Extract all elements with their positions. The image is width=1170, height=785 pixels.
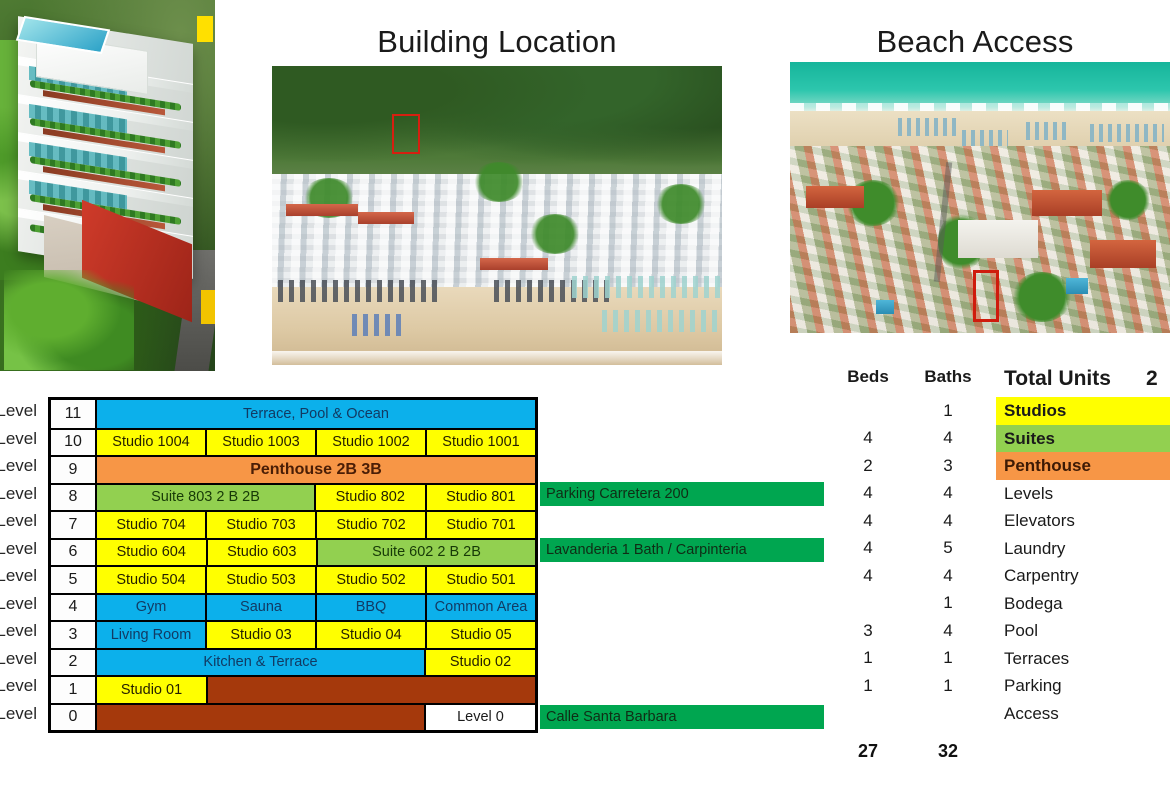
column-header-baths: Baths	[900, 367, 996, 387]
floor-level-number: 10	[51, 430, 97, 456]
shoreline-surf	[272, 351, 722, 365]
summary-category-label: Carpentry	[996, 562, 1146, 590]
floor-unit-cell: Kitchen & Terrace	[97, 650, 426, 676]
floor-unit-cell: Terrace, Pool & Ocean	[97, 400, 535, 428]
beach-umbrellas	[898, 118, 956, 136]
floor-unit-cell: Studio 01	[97, 677, 208, 703]
summary-baths-value: 4	[900, 566, 996, 586]
summary-category-label: Parking	[996, 672, 1146, 700]
summary-totals-row: 27 32	[836, 735, 1170, 767]
floor-unit-cell: Studio 502	[317, 567, 427, 593]
summary-row: 11Parking	[836, 672, 1170, 700]
summary-row: 34Pool	[836, 617, 1170, 645]
floor-unit-cell	[97, 705, 426, 731]
level-label: Level	[0, 507, 40, 535]
summary-category-count	[1146, 590, 1170, 618]
summary-row: 44Elevators	[836, 507, 1170, 535]
summary-baths-value: 4	[900, 621, 996, 641]
floor-unit-cell: Studio 704	[97, 512, 207, 538]
floor-table-row: 11Terrace, Pool & Ocean	[51, 400, 535, 428]
summary-row: 1Studios	[836, 397, 1170, 425]
floor-table-row: 7Studio 704Studio 703Studio 702Studio 70…	[51, 510, 535, 538]
summary-beds-value: 1	[836, 648, 900, 668]
summary-baths-value: 4	[900, 428, 996, 448]
subject-building-marker	[392, 114, 420, 154]
tree-cluster	[1106, 180, 1150, 220]
floor-unit-cell: Suite 602 2 B 2B	[318, 540, 535, 566]
floor-unit-cell: Studio 503	[207, 567, 317, 593]
palm-tree	[4, 270, 134, 370]
level-label: Level	[0, 397, 40, 425]
summary-beds-value: 1	[836, 676, 900, 696]
red-tile-roof	[1032, 190, 1102, 216]
summary-category-label: Laundry	[996, 535, 1146, 563]
floor-unit-cell: Living Room	[97, 622, 207, 648]
summary-category-count	[1146, 480, 1170, 508]
floor-table-row: 1Studio 01	[51, 675, 535, 703]
beach-umbrellas	[1090, 124, 1164, 142]
floor-row-cells: GymSaunaBBQCommon Area	[97, 595, 535, 621]
floor-plan-table: 11Terrace, Pool & Ocean10Studio 1004Stud…	[48, 397, 538, 733]
building-location-aerial-photo	[272, 66, 722, 365]
level-label: Level	[0, 480, 40, 508]
floor-table-row: 3Living RoomStudio 03Studio 04Studio 05	[51, 620, 535, 648]
floor-unit-cell: Studio 802	[316, 485, 427, 511]
yellow-marker-top	[197, 16, 213, 42]
level-label: Level	[0, 617, 40, 645]
floor-row-cells: Terrace, Pool & Ocean	[97, 400, 535, 428]
page-title-beach-access: Beach Access	[830, 24, 1120, 60]
floor-level-number: 2	[51, 650, 97, 676]
summary-category-count	[1146, 672, 1170, 700]
beach-umbrellas	[1026, 122, 1066, 140]
floor-level-number: 7	[51, 512, 97, 538]
white-rooftop	[958, 220, 1038, 258]
floor-row-cells: Studio 604Studio 603Suite 602 2 B 2B	[97, 540, 535, 566]
summary-category-label: Studios	[996, 397, 1146, 425]
tree-cluster	[528, 214, 582, 254]
red-tile-roof	[1090, 240, 1156, 268]
floor-unit-cell: Common Area	[427, 595, 535, 621]
floor-row-cells: Studio 504Studio 503Studio 502Studio 501	[97, 567, 535, 593]
page-title-building-location: Building Location	[272, 24, 722, 60]
summary-category-count	[1146, 535, 1170, 563]
summary-category-count	[1146, 397, 1170, 425]
floor-table-row: 0Level 0	[51, 703, 535, 731]
summary-beds-value: 4	[836, 483, 900, 503]
summary-beds-value: 4	[836, 566, 900, 586]
summary-row: 45Laundry	[836, 535, 1170, 563]
tree-cluster	[1012, 272, 1072, 322]
floor-unit-cell: Studio 504	[97, 567, 207, 593]
summary-row: 44Suites	[836, 425, 1170, 453]
summary-beds-value: 4	[836, 428, 900, 448]
summary-rows: 1Studios44Suites23Penthouse44Levels44Ele…	[836, 397, 1170, 727]
summary-category-label: Pool	[996, 617, 1146, 645]
floor-unit-cell: Studio 703	[207, 512, 317, 538]
summary-beds-value: 3	[836, 621, 900, 641]
summary-row: 44Carpentry	[836, 562, 1170, 590]
level-label: Level	[0, 672, 40, 700]
floor-unit-cell: Studio 03	[207, 622, 317, 648]
floor-table-row: 5Studio 504Studio 503Studio 502Studio 50…	[51, 565, 535, 593]
floor-table-row: 6Studio 604Studio 603Suite 602 2 B 2B	[51, 538, 535, 566]
floor-level-number: 11	[51, 400, 97, 428]
annotation-parking: Parking Carretera 200	[540, 482, 824, 506]
summary-category-label: Elevators	[996, 507, 1146, 535]
total-baths: 32	[900, 741, 996, 762]
column-header-count-clipped: 2	[1146, 367, 1170, 391]
level-label-column: Level Level Level Level Level Level Leve…	[0, 397, 40, 727]
floor-level-number: 1	[51, 677, 97, 703]
floor-row-cells: Penthouse 2B 3B	[97, 457, 535, 483]
summary-header-row: Beds Baths Total Units 2	[836, 367, 1170, 397]
red-tile-roof	[286, 204, 358, 216]
summary-row: 44Levels	[836, 480, 1170, 508]
floor-unit-cell: Level 0	[426, 705, 535, 731]
floor-unit-cell	[208, 677, 535, 703]
floor-level-number: 8	[51, 485, 97, 511]
floor-unit-cell: Suite 803 2 B 2B	[97, 485, 316, 511]
floor-unit-cell: Studio 702	[317, 512, 427, 538]
floor-level-number: 9	[51, 457, 97, 483]
summary-category-count	[1146, 562, 1170, 590]
summary-category-label: Suites	[996, 425, 1146, 453]
summary-baths-value: 1	[900, 401, 996, 421]
beach-umbrellas	[602, 310, 720, 332]
beach-umbrellas	[278, 280, 438, 302]
floor-unit-cell: Studio 701	[427, 512, 535, 538]
unit-summary-table: Beds Baths Total Units 2 1Studios44Suite…	[836, 367, 1170, 767]
beach-access-aerial-photo	[790, 62, 1170, 333]
red-tile-roof	[480, 258, 548, 270]
floor-row-cells: Living RoomStudio 03Studio 04Studio 05	[97, 622, 535, 648]
summary-baths-value: 1	[900, 676, 996, 696]
summary-beds-value: 4	[836, 538, 900, 558]
summary-row: Access	[836, 700, 1170, 728]
summary-category-label: Bodega	[996, 590, 1146, 618]
summary-category-label: Penthouse	[996, 452, 1146, 480]
floor-level-number: 4	[51, 595, 97, 621]
swimming-pool	[1066, 278, 1088, 294]
summary-beds-value: 4	[836, 511, 900, 531]
beach-umbrellas	[572, 276, 720, 298]
summary-beds-value: 2	[836, 456, 900, 476]
floor-unit-cell: Sauna	[207, 595, 317, 621]
floor-unit-cell: Studio 1002	[317, 430, 427, 456]
building-aerial-photo	[0, 0, 215, 371]
summary-baths-value: 4	[900, 483, 996, 503]
floor-level-number: 5	[51, 567, 97, 593]
summary-category-label: Access	[996, 700, 1146, 728]
floor-table-row: 8Suite 803 2 B 2BStudio 802Studio 801	[51, 483, 535, 511]
floor-unit-cell: Studio 05	[427, 622, 535, 648]
floor-unit-cell: Studio 1004	[97, 430, 207, 456]
tree-cluster	[472, 162, 526, 202]
floor-row-cells: Studio 01	[97, 677, 535, 703]
floor-level-number: 6	[51, 540, 97, 566]
floor-row-cells: Studio 1004Studio 1003Studio 1002Studio …	[97, 430, 535, 456]
column-header-total-units: Total Units	[996, 367, 1146, 391]
summary-category-count	[1146, 425, 1170, 453]
summary-category-count	[1146, 507, 1170, 535]
floor-row-cells: Kitchen & TerraceStudio 02	[97, 650, 535, 676]
summary-category-label: Terraces	[996, 645, 1146, 673]
floor-table-row: 4GymSaunaBBQCommon Area	[51, 593, 535, 621]
level-label: Level	[0, 562, 40, 590]
floor-level-number: 3	[51, 622, 97, 648]
floor-unit-cell: Studio 603	[208, 540, 319, 566]
floor-row-cells: Studio 704Studio 703Studio 702Studio 701	[97, 512, 535, 538]
tree-cluster	[654, 184, 708, 224]
floor-unit-cell: Studio 1003	[207, 430, 317, 456]
summary-row: 11Terraces	[836, 645, 1170, 673]
floor-table-row: 9Penthouse 2B 3B	[51, 455, 535, 483]
yellow-marker-bottom	[201, 290, 215, 324]
floor-unit-cell: Gym	[97, 595, 207, 621]
swimming-pool	[876, 300, 894, 314]
summary-category-count	[1146, 700, 1170, 728]
slide-canvas: Building Location Beach Access	[0, 0, 1170, 785]
red-tile-roof	[358, 212, 414, 224]
column-header-beds: Beds	[836, 367, 900, 387]
summary-category-count	[1146, 645, 1170, 673]
floor-unit-cell: Studio 1001	[427, 430, 535, 456]
floor-unit-cell: Studio 04	[317, 622, 427, 648]
floor-unit-cell: Studio 604	[97, 540, 208, 566]
level-label: Level	[0, 535, 40, 563]
summary-baths-value: 4	[900, 511, 996, 531]
summary-baths-value: 1	[900, 593, 996, 613]
floor-unit-cell: Penthouse 2B 3B	[97, 457, 535, 483]
floor-table-row: 10Studio 1004Studio 1003Studio 1002Studi…	[51, 428, 535, 456]
summary-row: 1Bodega	[836, 590, 1170, 618]
floor-level-number: 0	[51, 705, 97, 731]
summary-baths-value: 3	[900, 456, 996, 476]
level-label: Level	[0, 590, 40, 618]
level-label: Level	[0, 700, 40, 728]
floor-row-cells: Suite 803 2 B 2BStudio 802Studio 801	[97, 485, 535, 511]
floor-unit-cell: Studio 501	[427, 567, 535, 593]
level-label: Level	[0, 452, 40, 480]
level-label: Level	[0, 645, 40, 673]
summary-baths-value: 5	[900, 538, 996, 558]
level-label: Level	[0, 425, 40, 453]
floor-table-row: 2Kitchen & TerraceStudio 02	[51, 648, 535, 676]
floor-unit-cell: Studio 02	[426, 650, 535, 676]
summary-category-label: Levels	[996, 480, 1146, 508]
summary-row: 23Penthouse	[836, 452, 1170, 480]
annotation-street: Calle Santa Barbara	[540, 705, 824, 729]
subject-building-marker	[973, 270, 999, 322]
summary-category-count	[1146, 452, 1170, 480]
annotation-laundry-carpentry: Lavanderia 1 Bath / Carpinteria	[540, 538, 824, 562]
red-tile-roof	[806, 186, 864, 208]
summary-baths-value: 1	[900, 648, 996, 668]
beach-umbrellas	[352, 314, 402, 336]
floor-unit-cell: BBQ	[317, 595, 427, 621]
floor-row-cells: Level 0	[97, 705, 535, 731]
total-beds: 27	[836, 741, 900, 762]
floor-unit-cell: Studio 801	[427, 485, 536, 511]
summary-category-count	[1146, 617, 1170, 645]
